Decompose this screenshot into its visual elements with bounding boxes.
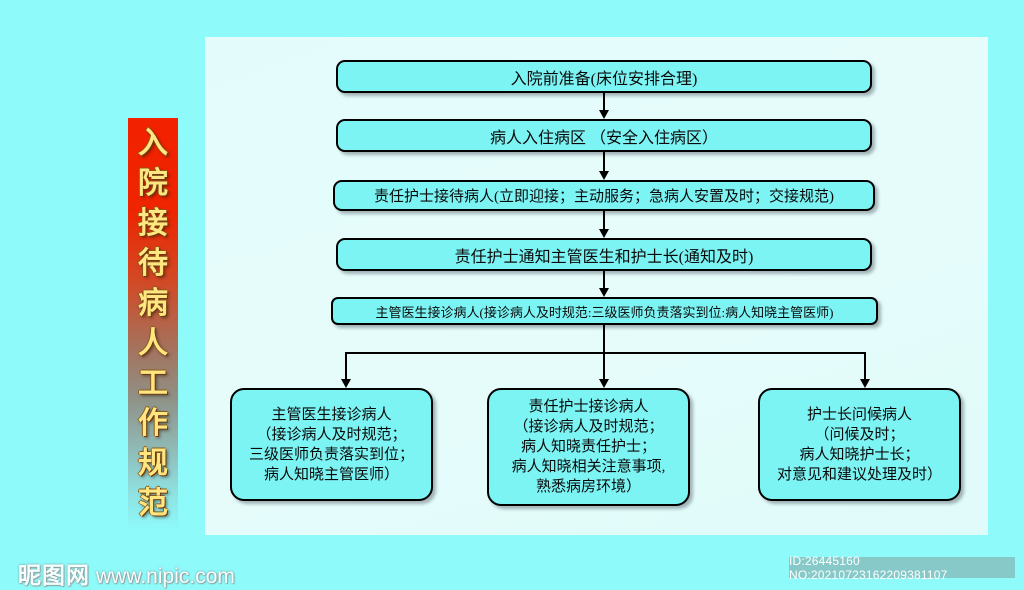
watermark-site-url: www.nipic.com (96, 565, 235, 589)
branch-left-arrow (341, 379, 351, 388)
branch-center-line (603, 352, 605, 380)
branch-nurse-line-3: 病人知晓相关注意事项, (512, 457, 666, 477)
branch-head-nurse-line-2: 病人知晓护士长； (777, 445, 942, 465)
flow-box-step-2: 病人入住病区 （安全入住病区） (336, 119, 872, 152)
site-watermark: 昵图网 www.nipic.com (18, 556, 235, 590)
vertical-title-banner: 入 院 接 待 病 人 工 作 规 范 (128, 118, 178, 530)
banner-char-4: 病 (138, 284, 168, 324)
branch-right-arrow (860, 379, 870, 388)
banner-char-6: 工 (138, 364, 168, 404)
connector-2-3-arrow (599, 171, 609, 180)
branch-head-nurse-line-1: （问候及时； (777, 425, 942, 445)
flow-box-step-4: 责任护士通知主管医生和护士长(通知及时) (336, 238, 872, 271)
split-stem-line (603, 325, 605, 352)
branch-nurse-line-4: 熟悉病房环境） (512, 477, 666, 497)
branch-right-line (864, 352, 866, 380)
banner-char-7: 作 (138, 404, 168, 444)
branch-doctor-line-3: 病人知晓主管医师） (249, 465, 414, 485)
connector-1-2-line (603, 93, 605, 110)
branch-doctor-line-1: （接诊病人及时规范； (249, 425, 414, 445)
banner-char-9: 范 (138, 484, 168, 524)
branch-center-arrow (599, 379, 609, 388)
branch-doctor-line-2: 三级医师负责落实到位； (249, 445, 414, 465)
flow-box-branch-head-nurse: 护士长问候病人 （问候及时； 病人知晓护士长； 对意见和建议处理及时） (758, 388, 961, 501)
branch-doctor-line-0: 主管医生接诊病人 (249, 405, 414, 425)
flow-box-step-1: 入院前准备(床位安排合理) (336, 60, 872, 93)
connector-4-5-arrow (599, 288, 609, 297)
branch-nurse-line-2: 病人知晓责任护士； (512, 437, 666, 457)
branch-nurse-line-1: （接诊病人及时规范； (512, 417, 666, 437)
banner-char-0: 入 (138, 124, 168, 164)
flow-box-branch-doctor: 主管医生接诊病人 （接诊病人及时规范； 三级医师负责落实到位； 病人知晓主管医师… (230, 388, 433, 501)
flowchart-canvas: 入 院 接 待 病 人 工 作 规 范 入院前准备(床位安排合理) 病人入住病区… (0, 0, 1024, 590)
banner-char-8: 规 (138, 444, 168, 484)
banner-char-2: 接 (138, 204, 168, 244)
banner-char-3: 待 (138, 244, 168, 284)
split-bus-line (345, 352, 866, 354)
image-id-badge: ID:26445160 NO:20210723162209381107 (789, 557, 1015, 578)
branch-head-nurse-line-0: 护士长问候病人 (777, 405, 942, 425)
flow-box-step-5: 主管医生接诊病人(接诊病人及时规范:三级医师负责落实到位:病人知晓主管医师) (331, 297, 878, 325)
flow-box-branch-nurse: 责任护士接诊病人 （接诊病人及时规范； 病人知晓责任护士； 病人知晓相关注意事项… (487, 388, 690, 506)
branch-head-nurse-line-3: 对意见和建议处理及时） (777, 465, 942, 485)
connector-3-4-arrow (599, 229, 609, 238)
flow-box-step-3: 责任护士接待病人(立即迎接；主动服务；急病人安置及时；交接规范) (333, 180, 875, 211)
banner-char-1: 院 (138, 164, 168, 204)
connector-4-5-line (603, 271, 605, 288)
connector-1-2-arrow (599, 110, 609, 119)
connector-2-3-line (603, 152, 605, 171)
branch-nurse-line-0: 责任护士接诊病人 (512, 397, 666, 417)
watermark-site-name: 昵图网 (18, 556, 90, 590)
branch-left-line (345, 352, 347, 380)
connector-3-4-line (603, 211, 605, 229)
banner-char-5: 人 (138, 324, 168, 364)
